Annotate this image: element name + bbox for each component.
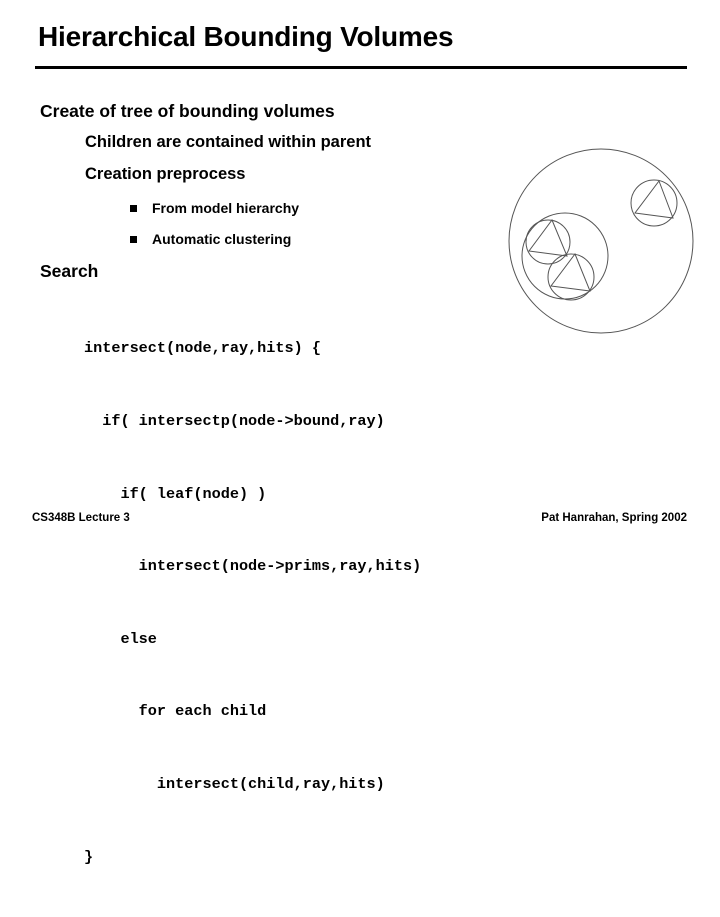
slide-canvas: Hierarchical Bounding Volumes Create of … bbox=[0, 0, 720, 540]
leaf-bounding-circle-1 bbox=[526, 220, 570, 264]
outline-item-label: Creation preprocess bbox=[85, 165, 245, 183]
code-line: else bbox=[84, 627, 421, 651]
outline-item-label: From model hierarchy bbox=[152, 200, 299, 216]
outline-item-3: From model hierarchy bbox=[130, 200, 299, 217]
triangle-3 bbox=[635, 181, 673, 218]
code-line: } bbox=[84, 845, 421, 869]
outline-item-label: Children are contained within parent bbox=[85, 133, 371, 151]
code-line: if( intersectp(node->bound,ray) bbox=[84, 409, 421, 433]
outline-item-label: Automatic clustering bbox=[152, 231, 291, 247]
outline-item-0: Create of tree of bounding volumes bbox=[40, 101, 335, 121]
footer-lecture-label: CS348B Lecture 3 bbox=[32, 512, 130, 524]
code-line: intersect(node,ray,hits) { bbox=[84, 336, 421, 360]
outline-item-label: Create of tree of bounding volumes bbox=[40, 101, 335, 121]
outline-item-2: Creation preprocess bbox=[85, 165, 245, 184]
square-bullet-icon bbox=[130, 205, 137, 212]
outline-item-1: Children are contained within parent bbox=[85, 133, 371, 152]
code-line: intersect(node->prims,ray,hits) bbox=[84, 554, 421, 578]
slide-body: Create of tree of bounding volumes Child… bbox=[0, 0, 720, 540]
code-line: if( leaf(node) ) bbox=[84, 482, 421, 506]
code-line: intersect(child,ray,hits) bbox=[84, 772, 421, 796]
outline-item-label: Search bbox=[40, 261, 98, 281]
outline-item-4: Automatic clustering bbox=[130, 231, 291, 248]
leaf-bounding-circle-2 bbox=[548, 254, 594, 300]
outline-item-5: Search bbox=[40, 261, 98, 281]
bounding-volume-hierarchy-diagram bbox=[495, 135, 710, 345]
square-bullet-icon bbox=[130, 236, 137, 243]
code-block: intersect(node,ray,hits) { if( intersect… bbox=[84, 288, 421, 917]
triangle-2 bbox=[551, 254, 590, 291]
footer-author-label: Pat Hanrahan, Spring 2002 bbox=[541, 512, 687, 524]
code-line: for each child bbox=[84, 699, 421, 723]
